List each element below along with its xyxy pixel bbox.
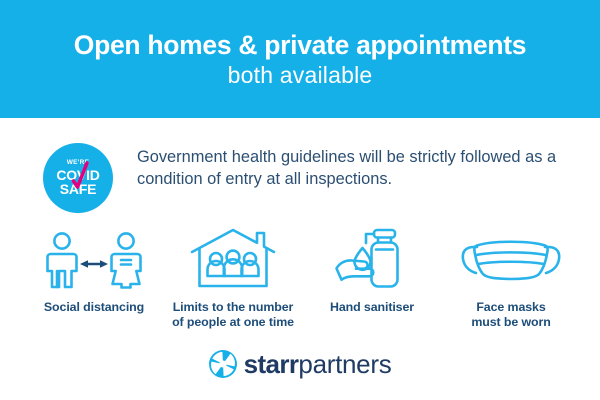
starr-partners-pinwheel-icon — [209, 350, 237, 378]
covid-safe-badge-text: WE'RE COVID SAFE — [43, 143, 113, 213]
brand-logo: starrpartners — [0, 350, 600, 378]
page-subtitle: both available — [228, 63, 373, 87]
covid-safe-badge-icon: WE'RE COVID SAFE — [43, 143, 113, 213]
guidelines-row: Social distancing — [25, 228, 580, 329]
guideline-item-face-masks: Face masks must be worn — [442, 228, 580, 329]
label-line-2: of people at one time — [172, 315, 294, 329]
face-mask-icon — [459, 228, 563, 290]
guideline-item-social-distancing: Social distancing — [25, 228, 163, 315]
badge-line-covid: COVID — [56, 168, 99, 182]
label-line-2: must be worn — [471, 315, 550, 329]
brand-wordmark: starrpartners — [244, 351, 392, 377]
covid-safe-poster: Open homes & private appointments both a… — [0, 0, 600, 400]
page-title: Open homes & private appointments — [74, 31, 526, 60]
guideline-label-occupancy-limit: Limits to the number of people at one ti… — [172, 300, 294, 329]
statement-row: WE'RE COVID SAFE Government health guide… — [43, 143, 563, 213]
label-line-1: Social distancing — [44, 300, 144, 314]
guideline-label-social-distancing: Social distancing — [44, 300, 144, 315]
label-line-1: Limits to the number — [173, 300, 294, 314]
label-line-1: Hand sanitiser — [330, 300, 414, 314]
guideline-label-hand-sanitiser: Hand sanitiser — [330, 300, 414, 315]
label-line-1: Face masks — [476, 300, 545, 314]
header-banner: Open homes & private appointments both a… — [0, 0, 600, 118]
guideline-item-hand-sanitiser: Hand sanitiser — [303, 228, 441, 315]
social-distancing-icon — [42, 228, 146, 290]
hand-sanitiser-icon — [332, 228, 412, 290]
badge-line-were: WE'RE — [67, 160, 90, 167]
guideline-item-occupancy-limit: Limits to the number of people at one ti… — [164, 228, 302, 329]
health-guidelines-statement: Government health guidelines will be str… — [137, 143, 563, 190]
brand-name-starr: starr — [244, 349, 299, 379]
guideline-label-face-masks: Face masks must be worn — [471, 300, 550, 329]
badge-line-safe: SAFE — [60, 182, 97, 196]
brand-name-partners: partners — [298, 349, 391, 379]
house-occupancy-limit-icon — [187, 228, 279, 290]
